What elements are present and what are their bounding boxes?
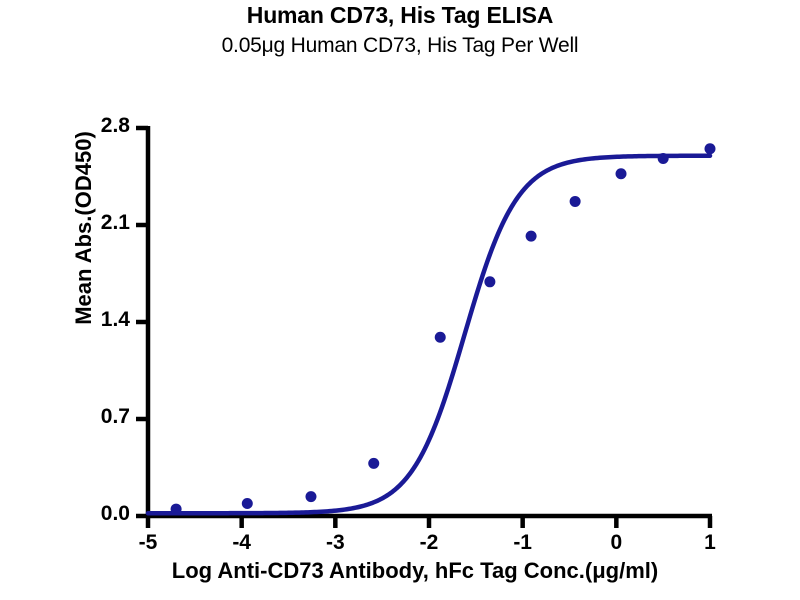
x-axis-title: Log Anti-CD73 Antibody, hFc Tag Conc.(μg… — [95, 558, 735, 584]
x-tick-label: -3 — [310, 531, 360, 555]
data-point — [171, 504, 182, 515]
y-tick-label: 0.7 — [60, 405, 130, 429]
data-point — [242, 498, 253, 509]
plot-area: 0.00.71.42.12.8 -5-4-3-2-101 Mean Abs.(O… — [0, 0, 800, 600]
y-axis-title: Mean Abs.(OD450) — [71, 98, 97, 358]
data-point — [658, 153, 669, 164]
chart-figure: Human CD73, His Tag ELISA 0.05μg Human C… — [0, 0, 800, 600]
x-tick-label: 1 — [685, 531, 735, 555]
data-point — [526, 231, 537, 242]
fit-curve-line — [148, 156, 710, 513]
y-tick-label: 0.0 — [60, 502, 130, 526]
axes-group — [136, 126, 712, 528]
data-point — [435, 332, 446, 343]
x-tick-label: -4 — [217, 531, 267, 555]
x-tick-label: -5 — [123, 531, 173, 555]
data-point — [368, 458, 379, 469]
data-point — [616, 168, 627, 179]
data-point — [570, 196, 581, 207]
data-point — [705, 143, 716, 154]
x-tick-label: 0 — [591, 531, 641, 555]
data-point — [484, 276, 495, 287]
x-tick-label: -1 — [498, 531, 548, 555]
x-tick-label: -2 — [404, 531, 454, 555]
data-point — [305, 491, 316, 502]
data-point-group — [171, 143, 716, 514]
